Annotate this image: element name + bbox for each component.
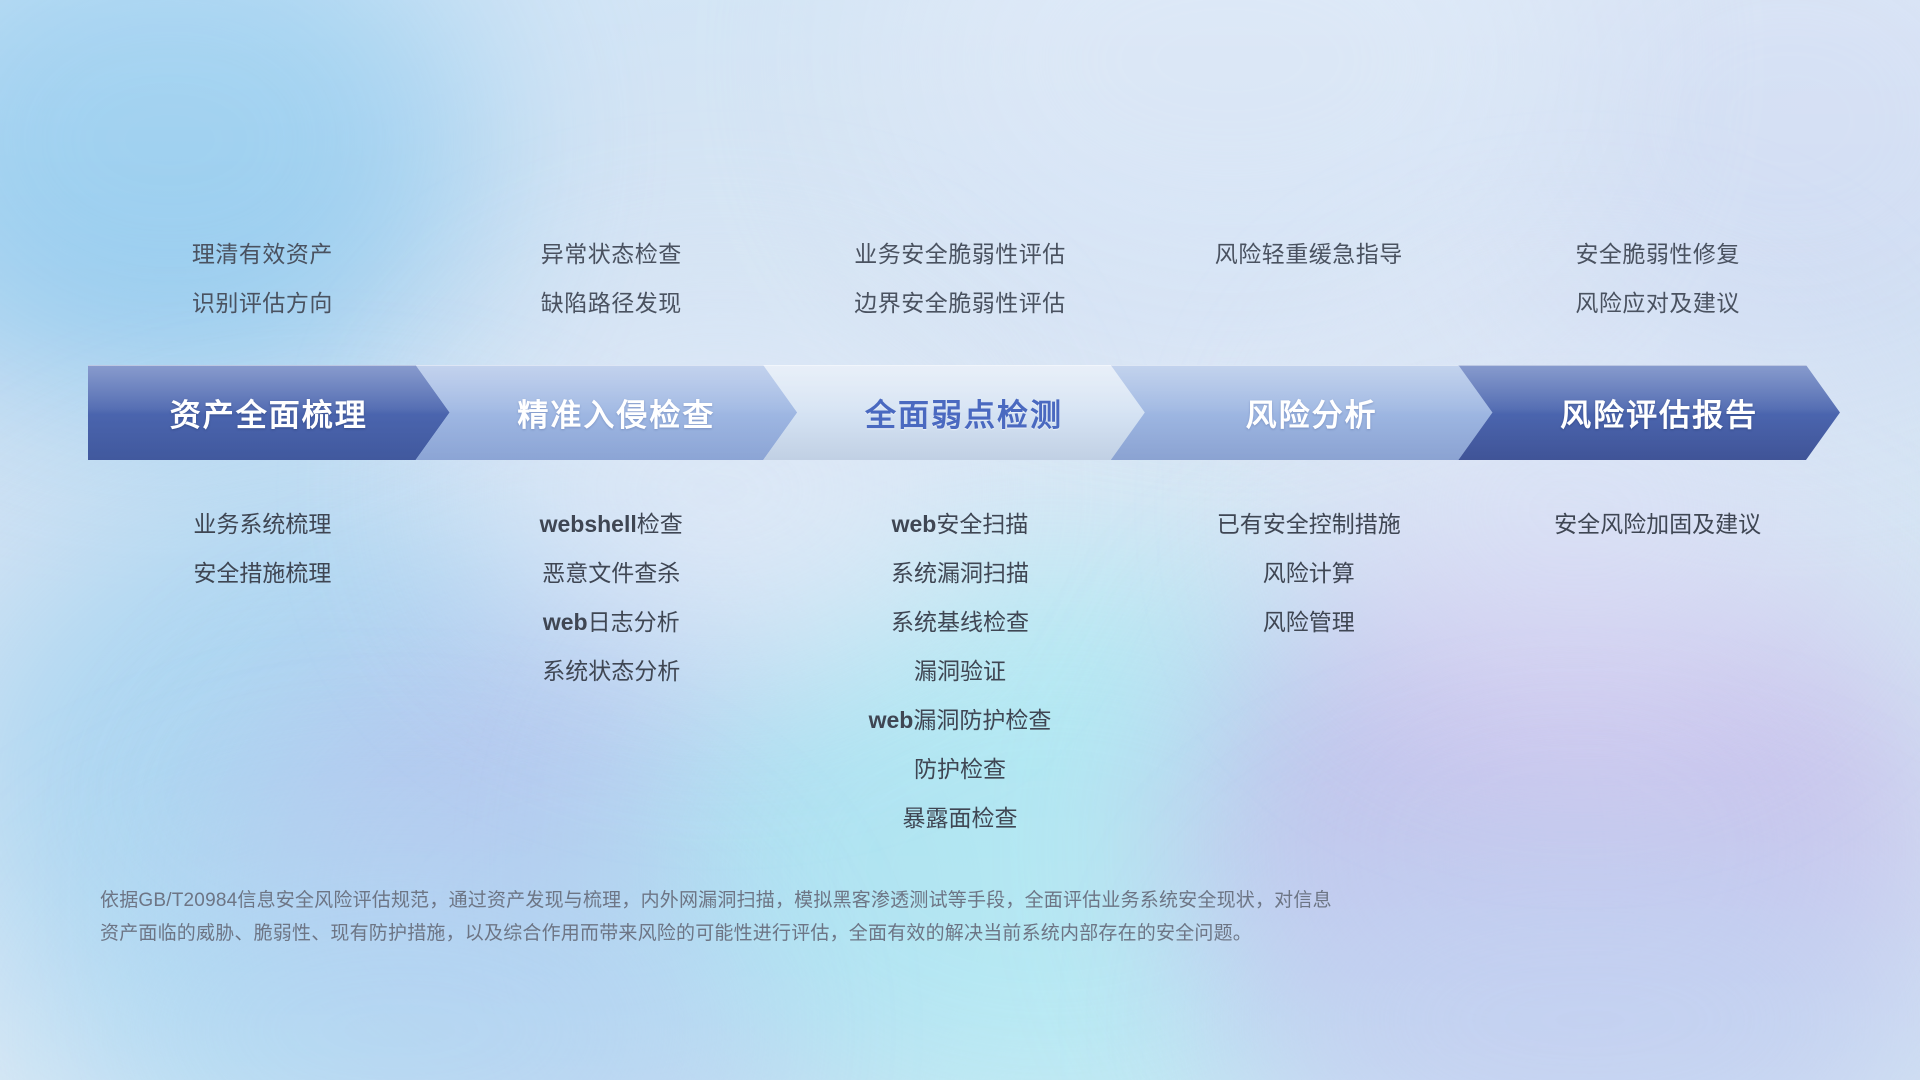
list-item: 漏洞验证: [786, 647, 1135, 696]
top-caption: 业务安全脆弱性评估: [786, 230, 1135, 279]
bottom-lists-row: 业务系统梳理 安全措施梳理 webshell检查 恶意文件查杀 web日志分析 …: [88, 500, 1832, 843]
list-item: web日志分析: [437, 598, 786, 647]
chevron-stage-5[interactable]: 风险评估报告: [1458, 365, 1840, 460]
top-captions-stage-3: 业务安全脆弱性评估 边界安全脆弱性评估: [786, 230, 1135, 328]
chevron-label: 资产全面梳理: [170, 390, 368, 435]
item-list-stage-1: 业务系统梳理 安全措施梳理: [88, 500, 437, 598]
top-captions-row: 理清有效资产 识别评估方向 异常状态检查 缺陷路径发现 业务安全脆弱性评估 边界…: [88, 230, 1832, 328]
list-item: web安全扫描: [786, 500, 1135, 549]
list-item: 系统基线检查: [786, 598, 1135, 647]
list-item: 安全措施梳理: [88, 549, 437, 598]
list-item: 已有安全控制措施: [1134, 500, 1483, 549]
diagram-stage: 理清有效资产 识别评估方向 异常状态检查 缺陷路径发现 业务安全脆弱性评估 边界…: [0, 0, 1920, 1080]
top-captions-stage-2: 异常状态检查 缺陷路径发现: [437, 230, 786, 328]
top-caption: 边界安全脆弱性评估: [786, 279, 1135, 328]
top-caption: 风险轻重缓急指导: [1134, 230, 1483, 279]
item-list-stage-3: web安全扫描 系统漏洞扫描 系统基线检查 漏洞验证 web漏洞防护检查 防护检…: [786, 500, 1135, 843]
list-item: 系统状态分析: [437, 647, 786, 696]
list-item: 防护检查: [786, 745, 1135, 794]
item-list-stage-2: webshell检查 恶意文件查杀 web日志分析 系统状态分析: [437, 500, 786, 696]
chevron-stage-4[interactable]: 风险分析: [1111, 365, 1493, 460]
top-caption: 识别评估方向: [88, 279, 437, 328]
list-item: web漏洞防护检查: [786, 696, 1135, 745]
list-item: 安全风险加固及建议: [1483, 500, 1832, 549]
top-caption: 风险应对及建议: [1483, 279, 1832, 328]
list-item: webshell检查: [437, 500, 786, 549]
list-item: 风险管理: [1134, 598, 1483, 647]
chevron-stage-2[interactable]: 精准入侵检查: [416, 365, 798, 460]
top-caption: 异常状态检查: [437, 230, 786, 279]
list-item: 风险计算: [1134, 549, 1483, 598]
top-captions-stage-1: 理清有效资产 识别评估方向: [88, 230, 437, 328]
list-item: 恶意文件查杀: [437, 549, 786, 598]
top-caption: 缺陷路径发现: [437, 279, 786, 328]
item-list-stage-4: 已有安全控制措施 风险计算 风险管理: [1134, 500, 1483, 647]
list-item: 系统漏洞扫描: [786, 549, 1135, 598]
footer-line-2: 资产面临的威胁、脆弱性、现有防护措施，以及综合作用而带来风险的可能性进行评估，全…: [100, 917, 1660, 950]
chevron-label: 风险分析: [1246, 390, 1378, 435]
chevron-label: 精准入侵检查: [517, 390, 715, 435]
top-caption: 安全脆弱性修复: [1483, 230, 1832, 279]
list-item: 业务系统梳理: [88, 500, 437, 549]
process-chevron-band: 资产全面梳理 精准入侵检查 全面弱点检测 风险分析 风险评估报告: [88, 365, 1840, 460]
footer-description: 依据GB/T20984信息安全风险评估规范，通过资产发现与梳理，内外网漏洞扫描，…: [100, 884, 1660, 950]
chevron-stage-3[interactable]: 全面弱点检测: [763, 365, 1145, 460]
chevron-stage-1[interactable]: 资产全面梳理: [88, 365, 450, 460]
top-caption: 理清有效资产: [88, 230, 437, 279]
top-captions-stage-5: 安全脆弱性修复 风险应对及建议: [1483, 230, 1832, 328]
top-captions-stage-4: 风险轻重缓急指导: [1134, 230, 1483, 328]
chevron-label: 全面弱点检测: [865, 390, 1063, 435]
chevron-label: 风险评估报告: [1560, 390, 1758, 435]
footer-line-1: 依据GB/T20984信息安全风险评估规范，通过资产发现与梳理，内外网漏洞扫描，…: [100, 884, 1660, 917]
item-list-stage-5: 安全风险加固及建议: [1483, 500, 1832, 549]
list-item: 暴露面检查: [786, 794, 1135, 843]
